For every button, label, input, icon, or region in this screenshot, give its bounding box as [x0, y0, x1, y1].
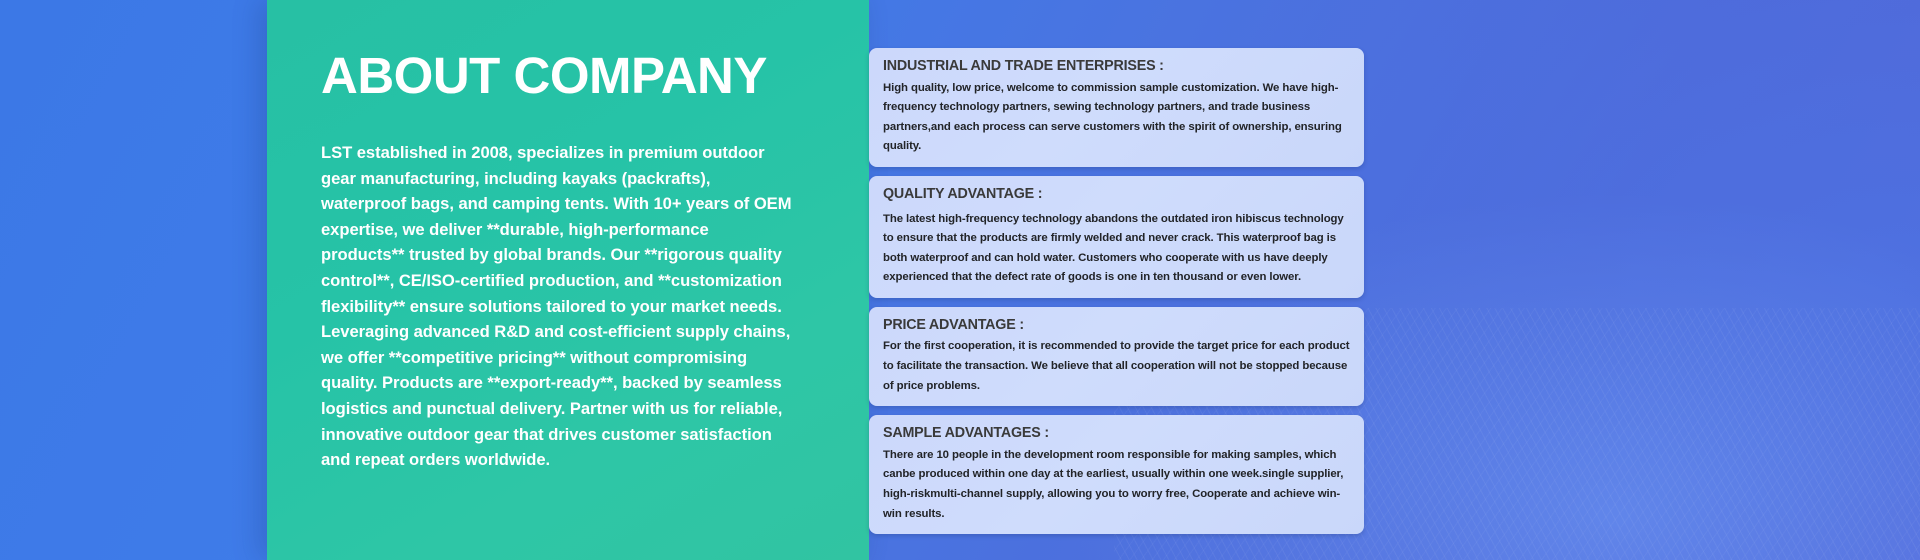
- about-company-banner: ABOUT COMPANY LST established in 2008, s…: [0, 0, 1920, 560]
- about-panel-content: ABOUT COMPANY LST established in 2008, s…: [294, 0, 869, 560]
- advantage-card-sample-advantages[interactable]: SAMPLE ADVANTAGES : There are 10 people …: [869, 415, 1364, 534]
- card-title: INDUSTRIAL AND TRADE ENTERPRISES :: [883, 57, 1350, 76]
- advantage-card-price-advantage[interactable]: PRICE ADVANTAGE : For the first cooperat…: [869, 307, 1364, 406]
- card-body: For the first cooperation, it is recomme…: [883, 337, 1350, 396]
- card-body: The latest high-frequency technology aba…: [883, 210, 1350, 288]
- advantage-card-industrial-and-trade-enterprises[interactable]: INDUSTRIAL AND TRADE ENTERPRISES : High …: [869, 48, 1364, 167]
- about-panel: ABOUT COMPANY LST established in 2008, s…: [267, 0, 869, 560]
- advantages-card-list: INDUSTRIAL AND TRADE ENTERPRISES : High …: [869, 0, 1920, 560]
- about-description: LST established in 2008, specializes in …: [321, 140, 795, 473]
- card-title: SAMPLE ADVANTAGES :: [883, 424, 1350, 443]
- card-body: There are 10 people in the development r…: [883, 446, 1350, 524]
- page-title: ABOUT COMPANY: [321, 50, 795, 102]
- card-title: PRICE ADVANTAGE :: [883, 316, 1350, 335]
- advantage-card-quality-advantage[interactable]: QUALITY ADVANTAGE : The latest high-freq…: [869, 176, 1364, 298]
- card-title: QUALITY ADVANTAGE :: [883, 185, 1350, 204]
- card-body: High quality, low price, welcome to comm…: [883, 79, 1350, 157]
